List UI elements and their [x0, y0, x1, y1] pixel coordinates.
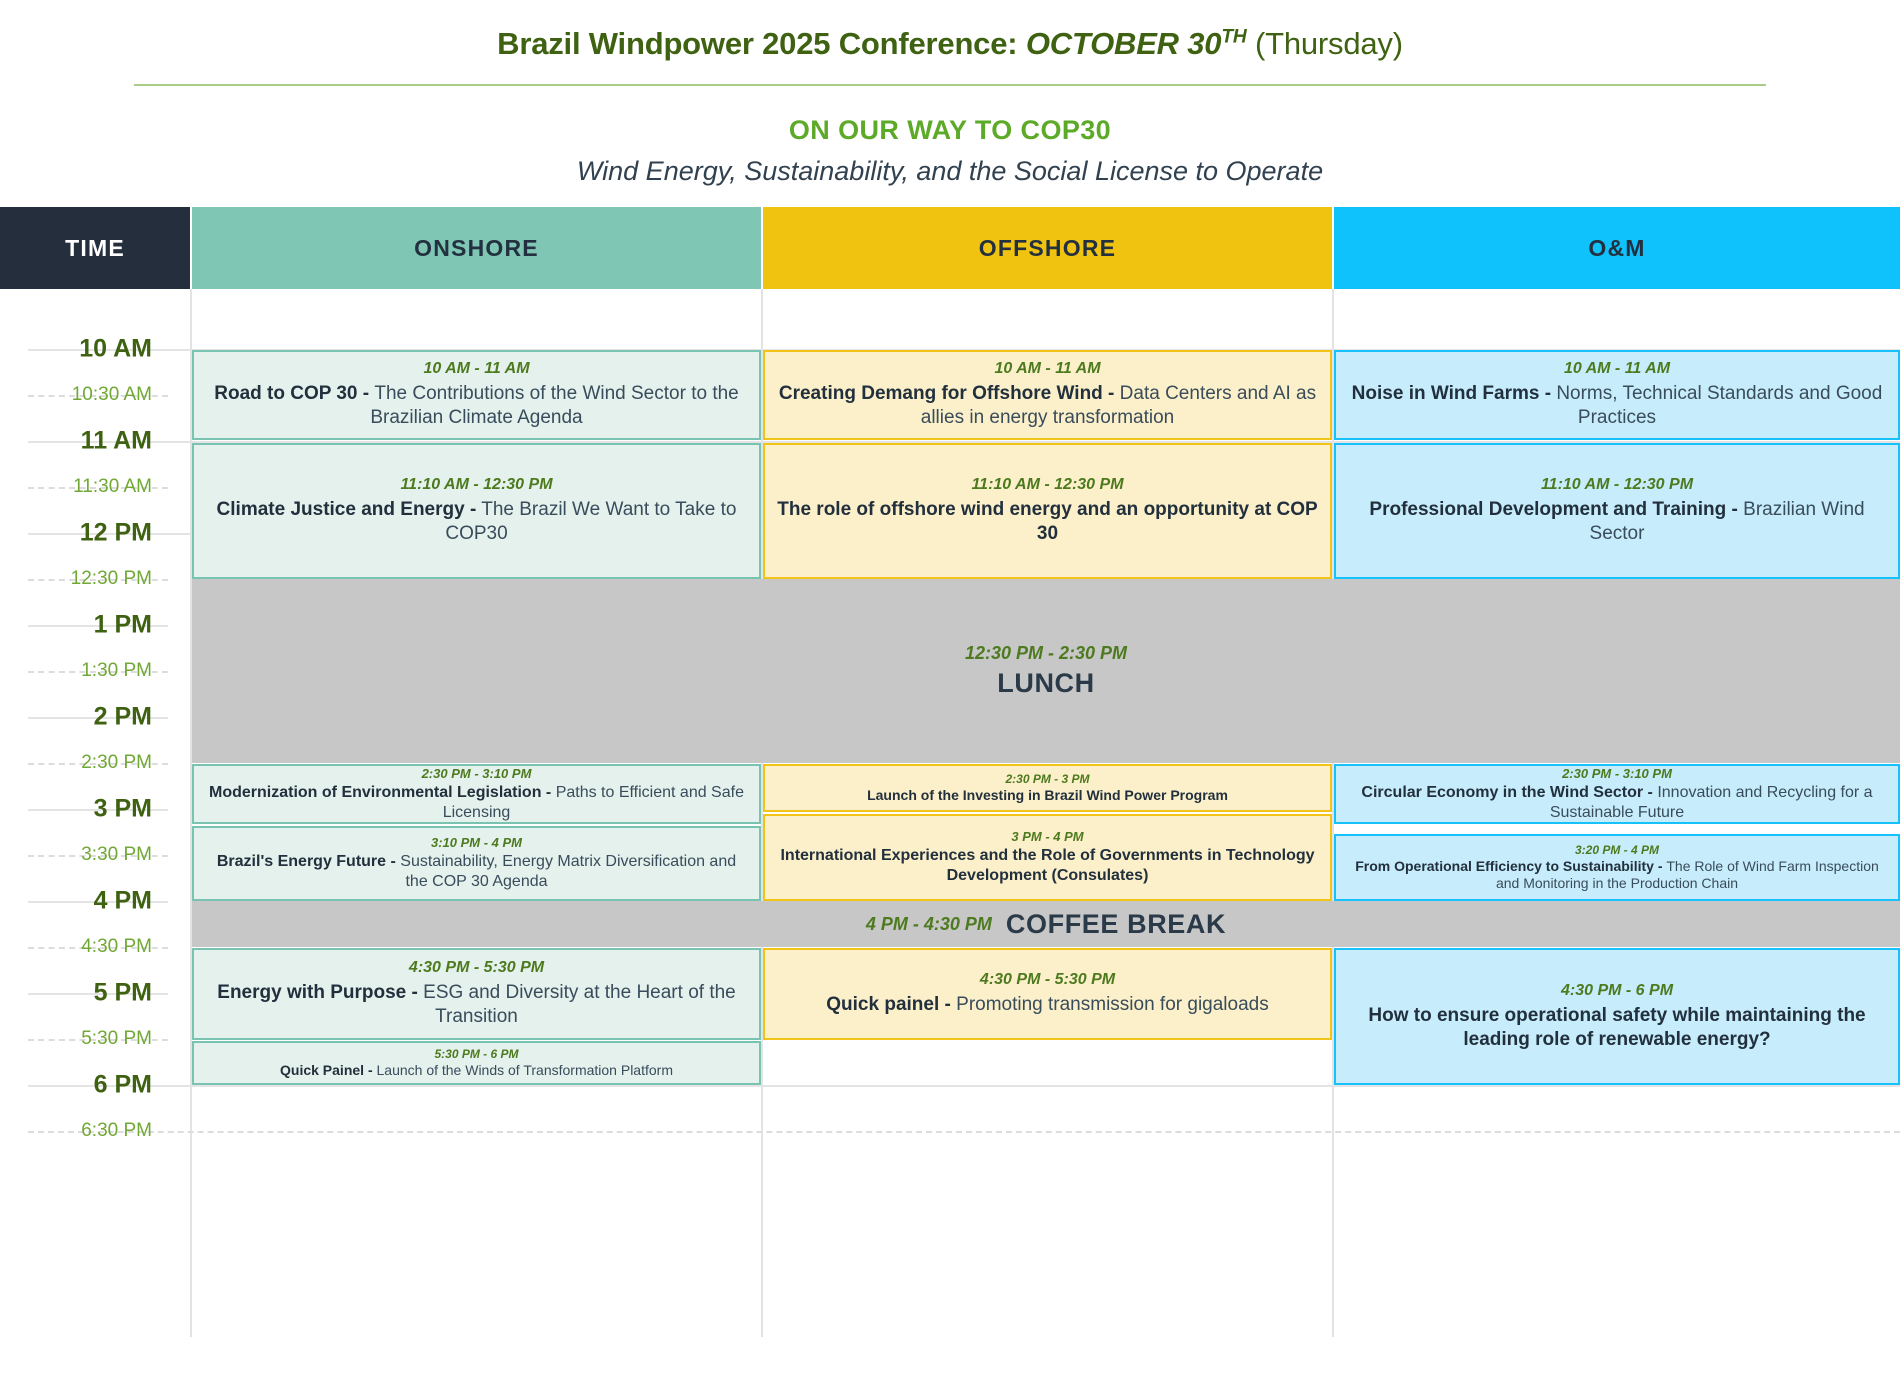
time-label-3pm: 3 PM: [0, 795, 152, 824]
session-card-om-4[interactable]: 3:20 PM - 4 PM From Operational Efficien…: [1334, 834, 1900, 901]
session-card-onshore-5[interactable]: 4:30 PM - 5:30 PM Energy with Purpose - …: [192, 948, 761, 1040]
time-label-5pm: 5 PM: [0, 979, 152, 1008]
time-label-6pm: 6 PM: [0, 1071, 152, 1100]
time-label-10am: 10 AM: [0, 335, 152, 364]
time-label-4pm: 4 PM: [0, 887, 152, 916]
session-title: Circular Economy in the Wind Sector - In…: [1346, 783, 1888, 822]
time-label-2pm: 2 PM: [0, 703, 152, 732]
gridline-6pm: [28, 1085, 1900, 1087]
session-card-om-5[interactable]: 4:30 PM - 6 PM How to ensure operational…: [1334, 948, 1900, 1085]
session-time: 4:30 PM - 5:30 PM: [980, 971, 1115, 989]
title-prefix: Brazil Windpower 2025 Conference:: [497, 26, 1017, 61]
schedule-grid: TIME ONSHORE OFFSHORE O&M 10 AM 10:30 AM…: [0, 207, 1900, 1337]
session-title: From Operational Efficiency to Sustainab…: [1346, 858, 1888, 892]
session-title: Quick Painel - Launch of the Winds of Tr…: [280, 1062, 673, 1079]
break-lunch: 12:30 PM - 2:30 PM LUNCH: [192, 579, 1900, 763]
title-date: OCTOBER 30TH: [1026, 26, 1247, 61]
break-lunch-label: LUNCH: [997, 668, 1095, 699]
session-card-offshore-4[interactable]: 3 PM - 4 PM International Experiences an…: [763, 814, 1332, 901]
session-time: 11:10 AM - 12:30 PM: [971, 476, 1123, 494]
time-label-330pm: 3:30 PM: [0, 844, 152, 866]
time-label-530pm: 5:30 PM: [0, 1028, 152, 1050]
session-time: 3:10 PM - 4 PM: [431, 835, 522, 850]
session-title: How to ensure operational safety while m…: [1346, 1004, 1888, 1052]
break-coffee: 4 PM - 4:30 PM COFFEE BREAK: [192, 901, 1900, 947]
session-title: Creating Demang for Offshore Wind - Data…: [775, 382, 1320, 430]
time-label-1130am: 11:30 AM: [0, 476, 152, 498]
column-header-om: O&M: [1334, 207, 1900, 289]
time-label-1pm: 1 PM: [0, 611, 152, 640]
time-label-11am: 11 AM: [0, 427, 152, 456]
session-time: 10 AM - 11 AM: [994, 360, 1100, 378]
column-header-onshore: ONSHORE: [192, 207, 761, 289]
time-label-130pm: 1:30 PM: [0, 660, 152, 682]
session-title: Modernization of Environmental Legislati…: [204, 783, 749, 822]
session-card-onshore-4[interactable]: 3:10 PM - 4 PM Brazil's Energy Future - …: [192, 826, 761, 901]
session-title: Launch of the Investing in Brazil Wind P…: [867, 787, 1228, 804]
session-title: International Experiences and the Role o…: [775, 846, 1320, 885]
break-coffee-label: COFFEE BREAK: [1006, 909, 1226, 940]
session-card-om-1[interactable]: 10 AM - 11 AM Noise in Wind Farms - Norm…: [1334, 350, 1900, 440]
session-time: 10 AM - 11 AM: [423, 360, 529, 378]
session-time: 4:30 PM - 5:30 PM: [409, 959, 544, 977]
time-label-12pm: 12 PM: [0, 519, 152, 548]
column-header-offshore: OFFSHORE: [763, 207, 1332, 289]
session-time: 4:30 PM - 6 PM: [1561, 982, 1673, 1000]
time-label-430pm: 4:30 PM: [0, 936, 152, 958]
session-title: Brazil's Energy Future - Sustainability,…: [204, 852, 749, 891]
session-card-onshore-1[interactable]: 10 AM - 11 AM Road to COP 30 - The Contr…: [192, 350, 761, 440]
session-card-offshore-5[interactable]: 4:30 PM - 5:30 PM Quick painel - Promoti…: [763, 948, 1332, 1040]
subtitle-main: ON OUR WAY TO COP30: [0, 115, 1900, 146]
subtitle-sub: Wind Energy, Sustainability, and the Soc…: [0, 156, 1900, 187]
session-time: 5:30 PM - 6 PM: [434, 1047, 518, 1061]
session-time: 11:10 AM - 12:30 PM: [400, 476, 552, 494]
time-label-1030am: 10:30 AM: [0, 384, 152, 406]
break-lunch-time: 12:30 PM - 2:30 PM: [965, 643, 1127, 664]
document-header: Brazil Windpower 2025 Conference: OCTOBE…: [0, 0, 1900, 187]
session-time: 3 PM - 4 PM: [1011, 829, 1083, 844]
title-divider: [134, 84, 1766, 86]
session-title: Road to COP 30 - The Contributions of th…: [204, 382, 749, 430]
title-date-superscript: TH: [1221, 27, 1246, 48]
session-card-offshore-3[interactable]: 2:30 PM - 3 PM Launch of the Investing i…: [763, 764, 1332, 812]
session-title: Climate Justice and Energy - The Brazil …: [204, 498, 749, 546]
column-header-time: TIME: [0, 207, 190, 289]
session-title: Noise in Wind Farms - Norms, Technical S…: [1346, 382, 1888, 430]
session-time: 3:20 PM - 4 PM: [1575, 843, 1659, 857]
session-card-om-3[interactable]: 2:30 PM - 3:10 PM Circular Economy in th…: [1334, 764, 1900, 824]
session-card-offshore-2[interactable]: 11:10 AM - 12:30 PM The role of offshore…: [763, 443, 1332, 579]
session-time: 2:30 PM - 3:10 PM: [1562, 766, 1672, 781]
session-card-onshore-6[interactable]: 5:30 PM - 6 PM Quick Painel - Launch of …: [192, 1041, 761, 1085]
time-label-230pm: 2:30 PM: [0, 752, 152, 774]
session-time: 10 AM - 11 AM: [1564, 360, 1670, 378]
time-label-630pm: 6:30 PM: [0, 1120, 152, 1142]
time-label-1230pm: 12:30 PM: [0, 568, 152, 590]
page-title: Brazil Windpower 2025 Conference: OCTOBE…: [0, 26, 1900, 62]
break-coffee-time: 4 PM - 4:30 PM: [866, 914, 992, 935]
session-card-offshore-1[interactable]: 10 AM - 11 AM Creating Demang for Offsho…: [763, 350, 1332, 440]
session-title: Energy with Purpose - ESG and Diversity …: [204, 981, 749, 1029]
session-time: 2:30 PM - 3:10 PM: [422, 766, 532, 781]
session-title: Professional Development and Training - …: [1346, 498, 1888, 546]
session-title: The role of offshore wind energy and an …: [775, 498, 1320, 546]
session-time: 2:30 PM - 3 PM: [1005, 772, 1089, 786]
session-time: 11:10 AM - 12:30 PM: [1541, 476, 1693, 494]
gridline-630pm: [28, 1131, 1900, 1133]
title-day: (Thursday): [1255, 26, 1403, 61]
session-title: Quick painel - Promoting transmission fo…: [826, 993, 1268, 1017]
session-card-onshore-2[interactable]: 11:10 AM - 12:30 PM Climate Justice and …: [192, 443, 761, 579]
session-card-om-2[interactable]: 11:10 AM - 12:30 PM Professional Develop…: [1334, 443, 1900, 579]
session-card-onshore-3[interactable]: 2:30 PM - 3:10 PM Modernization of Envir…: [192, 764, 761, 824]
